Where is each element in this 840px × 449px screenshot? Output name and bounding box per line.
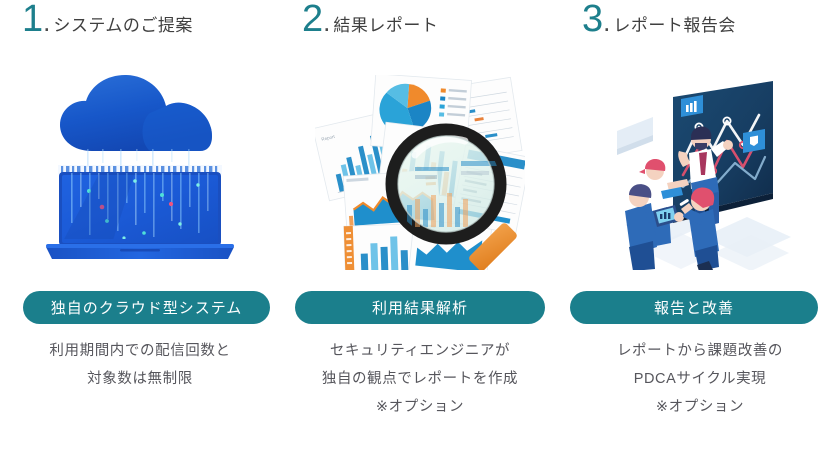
- step-heading-text-1: システムのご提案: [53, 17, 193, 34]
- step-card-1: 1 . システムのご提案: [0, 0, 280, 449]
- step-number-dot-1: .: [43, 9, 50, 35]
- step-caption-3: レポートから課題改善の PDCAサイクル実現 ※オプション: [560, 337, 840, 421]
- caption-line: 利用期間内での配信回数と: [0, 337, 280, 365]
- step-heading-2: 2 . 結果レポート: [280, 0, 560, 70]
- step-caption-1: 利用期間内での配信回数と 対象数は無制限: [0, 337, 280, 393]
- caption-line: ※オプション: [560, 393, 840, 421]
- steps-container: 1 . システムのご提案: [0, 0, 840, 449]
- caption-line: 独自の観点でレポートを作成: [280, 365, 560, 393]
- step-pill-1[interactable]: 独自のクラウド型システム: [23, 291, 270, 324]
- caption-line: セキュリティエンジニアが: [280, 337, 560, 365]
- step-card-3: 3 . レポート報告会: [560, 0, 840, 449]
- cloud-shape: [60, 75, 212, 151]
- illustration-cloud-laptop: [0, 70, 280, 275]
- cloud-laptop-data-icon: [40, 73, 240, 273]
- step-number-dot-3: .: [603, 9, 610, 35]
- caption-line: ※オプション: [280, 393, 560, 421]
- illustration-charts-magnifier: Report: [280, 70, 560, 275]
- step-pill-2[interactable]: 利用結果解析: [295, 291, 545, 324]
- meeting-presentation-icon: [595, 75, 805, 270]
- caption-line: 対象数は無制限: [0, 365, 280, 393]
- step-heading-text-3: レポート報告会: [613, 17, 736, 34]
- floating-cards: [617, 117, 653, 155]
- step-heading-1: 1 . システムのご提案: [0, 0, 280, 70]
- step-number-dot-2: .: [323, 9, 330, 35]
- laptop-screen: [59, 172, 221, 246]
- charts-magnifier-icon: Report: [315, 75, 525, 270]
- step-heading-3: 3 . レポート報告会: [560, 0, 840, 70]
- caption-line: レポートから課題改善の: [560, 337, 840, 365]
- step-number-1: 1: [22, 0, 42, 38]
- board-icon-shield: [743, 129, 765, 153]
- laptop-base: [46, 244, 234, 259]
- illustration-meeting-presentation: [560, 70, 840, 275]
- step-pill-3[interactable]: 報告と改善: [570, 291, 818, 324]
- caption-line: PDCAサイクル実現: [560, 365, 840, 393]
- step-heading-text-2: 結果レポート: [333, 17, 438, 34]
- step-number-3: 3: [582, 0, 602, 38]
- step-caption-2: セキュリティエンジニアが 独自の観点でレポートを作成 ※オプション: [280, 337, 560, 421]
- step-number-2: 2: [302, 0, 322, 38]
- step-card-2: 2 . 結果レポート: [280, 0, 560, 449]
